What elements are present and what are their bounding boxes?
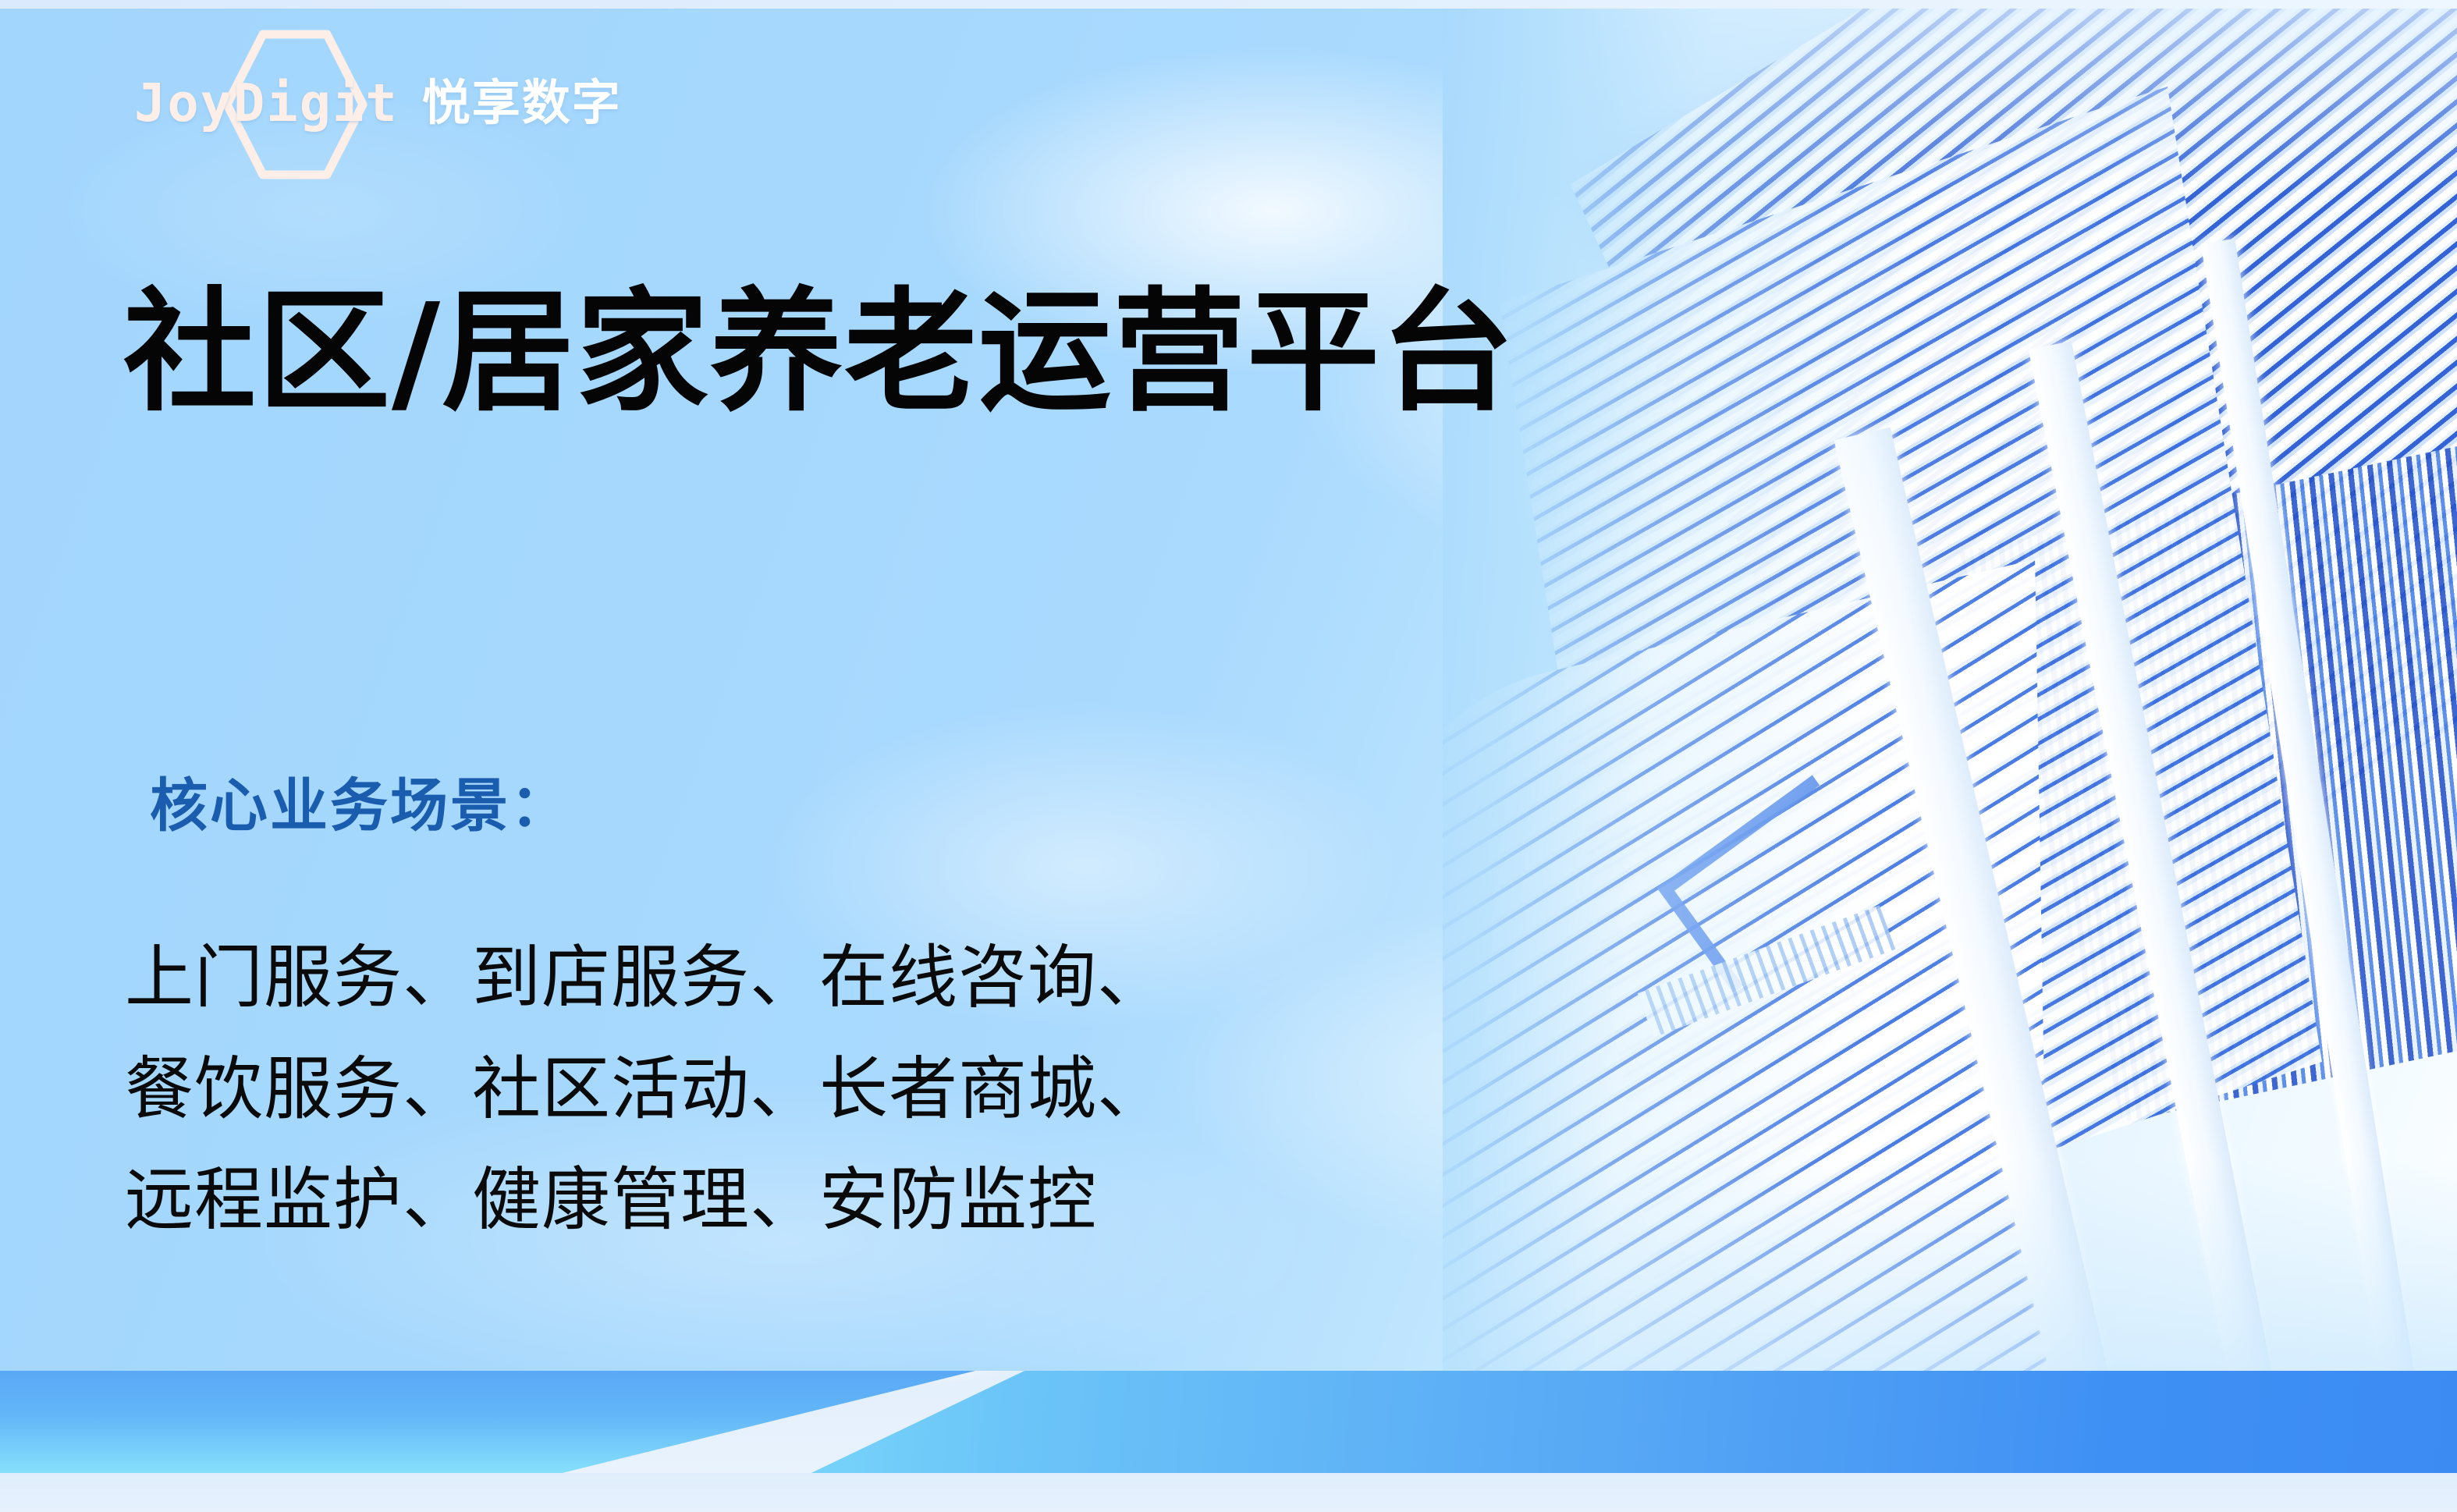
page-title: 社区/居家养老运营平台: [123, 275, 1515, 431]
scenario-list: 上门服务、到店服务、在线咨询、 餐饮服务、社区活动、长者商城、 远程监护、健康管…: [125, 922, 1166, 1256]
brand-logo-mark: JoyDigit: [134, 77, 399, 130]
skyscraper-photo: [1443, 0, 2457, 1381]
slide-root: JoyDigit 悦享数字 社区/居家养老运营平台 核心业务场景： 上门服务、到…: [0, 0, 2457, 1512]
photo-haze-overlay: [1443, 0, 2457, 1381]
band-footer-strip: [0, 1473, 2457, 1512]
brand-logo-name-cn: 悦享数字: [422, 79, 622, 127]
scenario-line: 餐饮服务、社区活动、长者商城、: [125, 1034, 1166, 1145]
bottom-decorative-band: [0, 1371, 2457, 1512]
scenario-line: 上门服务、到店服务、在线咨询、: [125, 922, 1166, 1034]
brand-logo: JoyDigit 悦享数字: [134, 67, 622, 139]
top-light-strip: [0, 0, 2457, 9]
scenario-line: 远程监护、健康管理、安防监控: [125, 1145, 1166, 1256]
section-heading: 核心业务场景：: [150, 777, 570, 835]
